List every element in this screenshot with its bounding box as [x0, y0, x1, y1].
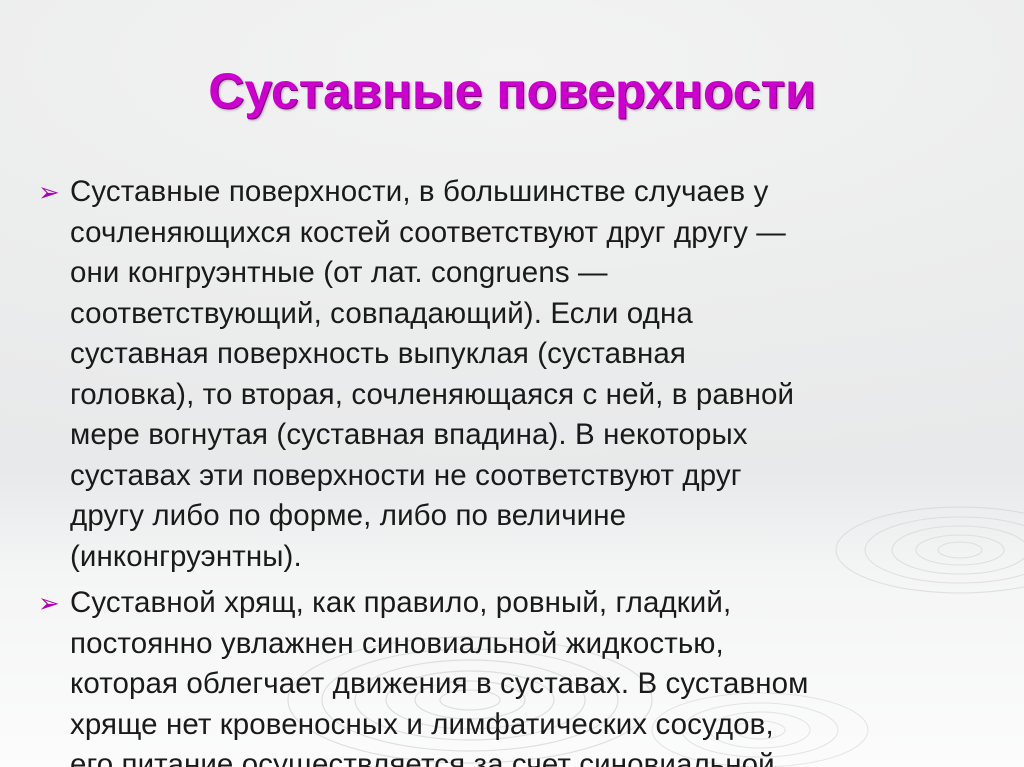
list-item: ➢ Суставной хрящ, как правило, ровный, г…	[34, 583, 990, 767]
bullet-arrow-icon: ➢	[34, 583, 70, 623]
bullet-text: Суставной хрящ, как правило, ровный, гла…	[70, 583, 990, 767]
bullet-arrow-icon: ➢	[34, 172, 70, 212]
list-item: ➢ Суставные поверхности, в большинстве с…	[34, 172, 990, 577]
slide-title: Суставные поверхности	[0, 62, 1024, 120]
slide-body: ➢ Суставные поверхности, в большинстве с…	[34, 172, 990, 767]
bullet-text: Суставные поверхности, в большинстве слу…	[70, 172, 990, 577]
presentation-slide: Суставные поверхности ➢ Суставные поверх…	[0, 0, 1024, 767]
